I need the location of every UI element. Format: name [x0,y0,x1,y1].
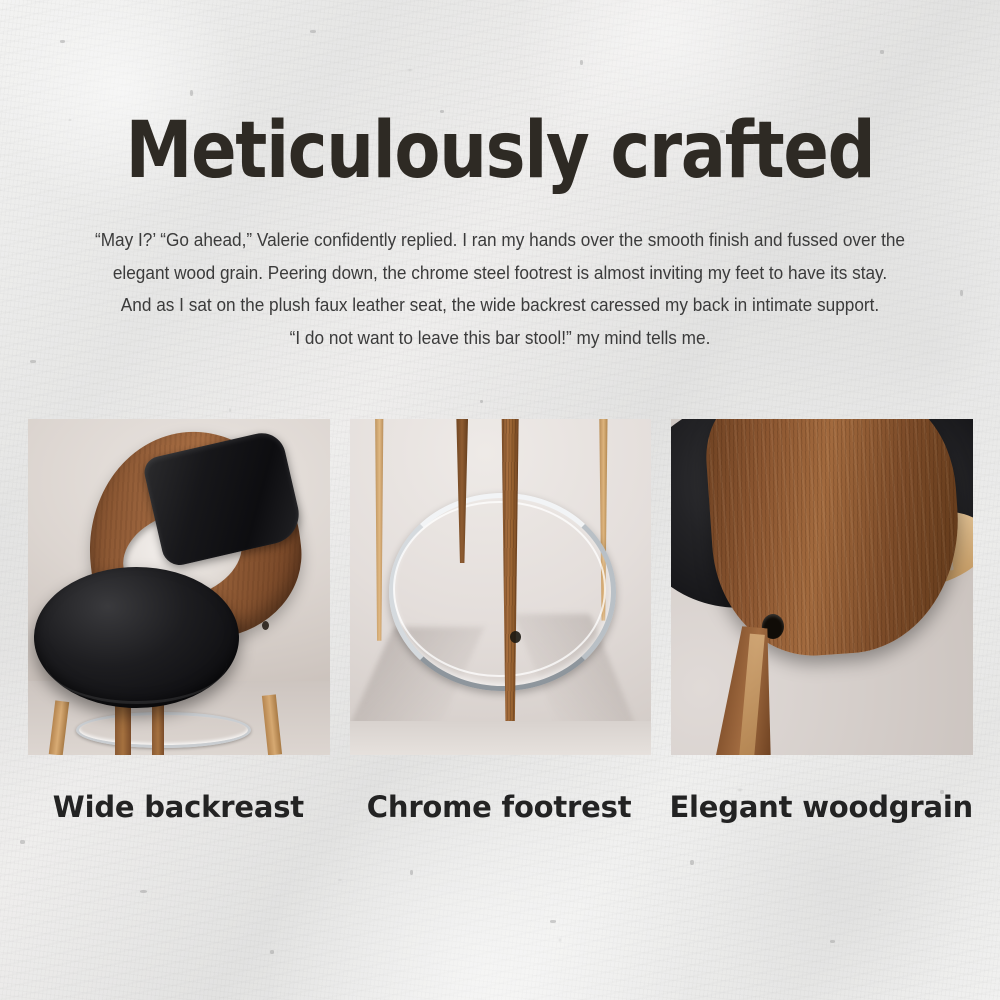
chrome-ring-highlight [393,501,605,676]
body-copy-line-4: “I do not want to leave this bar stool!”… [82,322,919,355]
feature-caption-row: Wide backreast Chrome footrest Elegant w… [28,780,973,835]
caption-chrome-footrest: Chrome footrest [349,780,650,835]
feature-photo-strip [28,419,973,755]
photo-floor [350,721,652,755]
feature-photo-elegant-woodgrain [671,419,973,755]
caption-wide-backrest: Wide backreast [28,780,329,835]
caption-elegant-woodgrain: Elegant woodgrain [669,780,973,835]
body-copy-line-1: “May I?’ “Go ahead,” Valerie confidently… [82,224,919,257]
seat-rim-highlight [46,621,227,705]
stool-leg [152,705,164,755]
marketing-banner: Meticulously crafted “May I?’ “Go ahead,… [0,0,1000,1000]
feature-photo-chrome-footrest [350,419,652,755]
body-copy-line-2: elegant wood grain. Peering down, the ch… [82,257,919,290]
page-title: Meticulously crafted [70,110,930,192]
body-copy: “May I?’ “Go ahead,” Valerie confidently… [82,224,919,354]
body-copy-line-3: And as I sat on the plush faux leather s… [82,289,919,322]
feature-photo-wide-backrest [28,419,330,755]
bolt-hole [510,631,521,643]
